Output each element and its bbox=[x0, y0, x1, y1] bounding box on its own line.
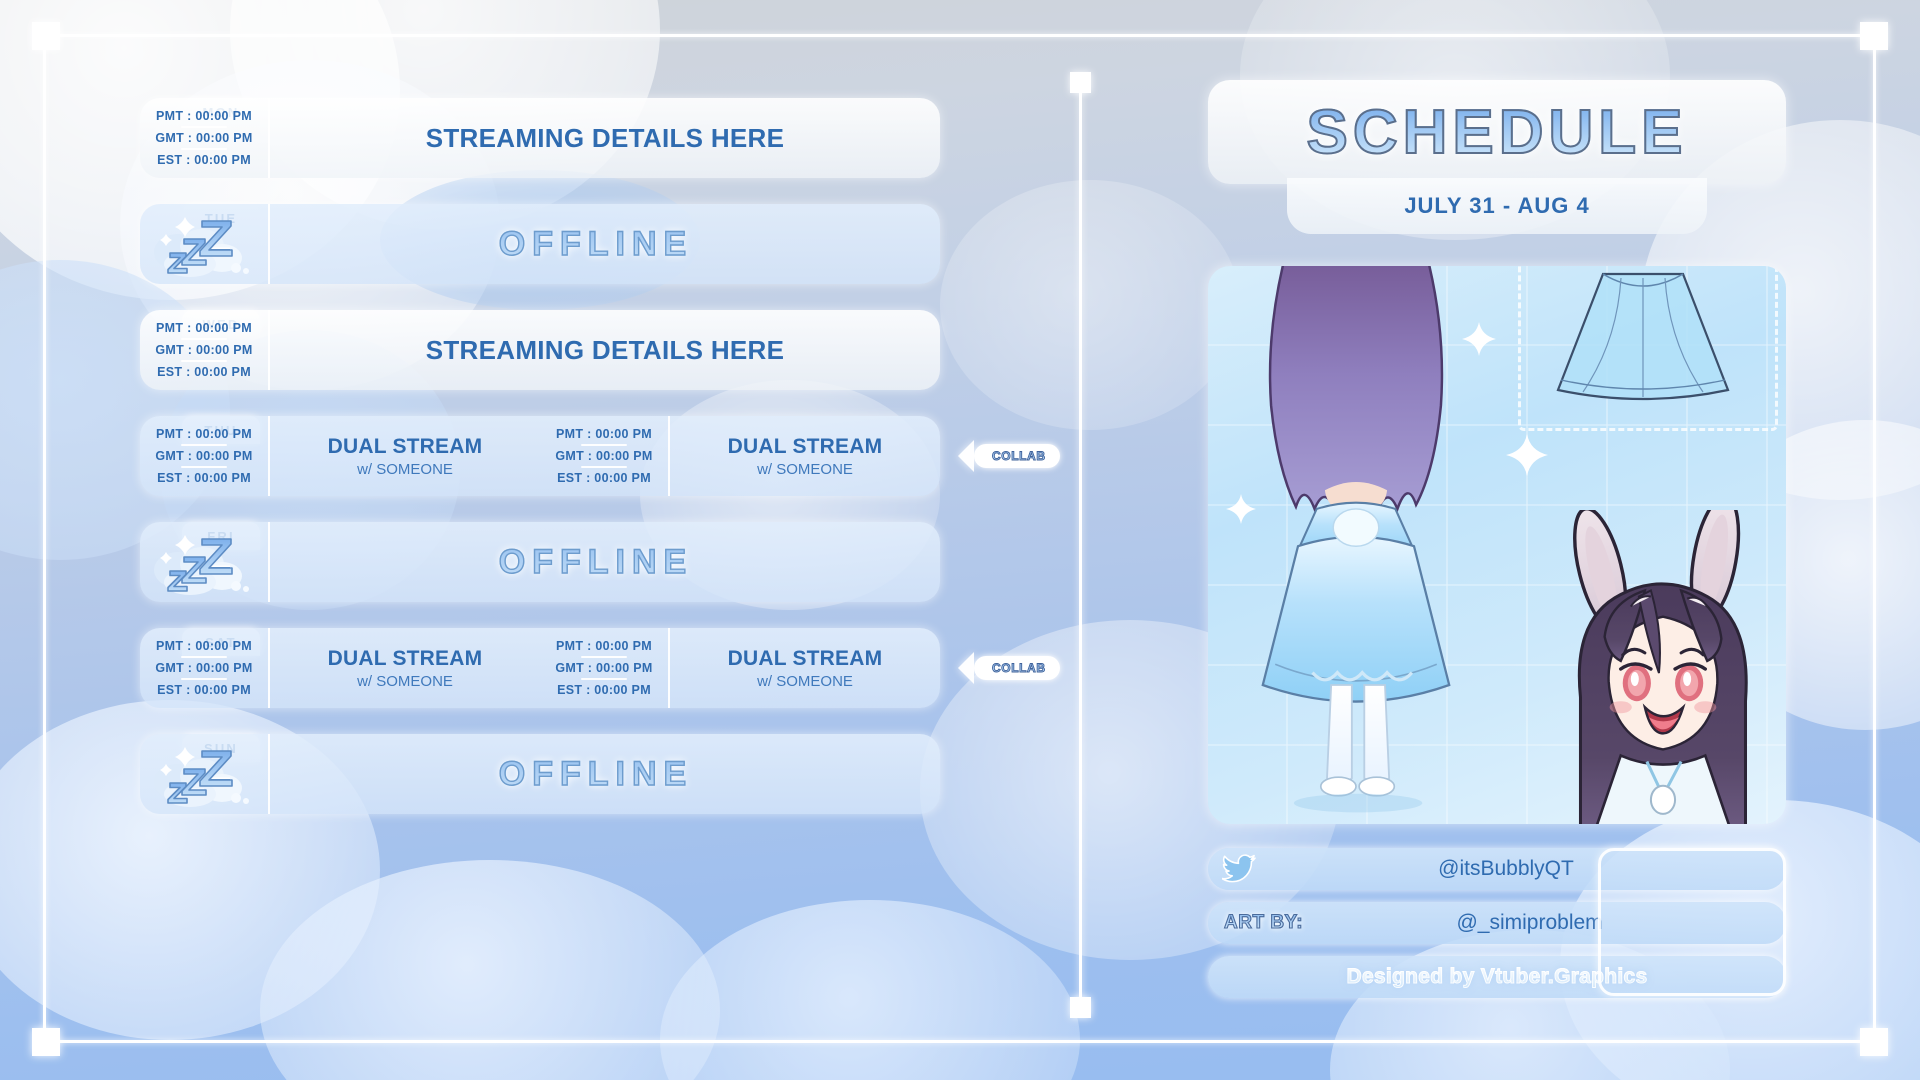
schedule-graphic: MONPMT : 00:00 PMGMT : 00:00 PMEST : 00:… bbox=[0, 0, 1920, 1080]
timeline-divider bbox=[1079, 82, 1082, 1008]
schedule-row-wed[interactable]: PMT : 00:00 PMGMT : 00:00 PMEST : 00:00 … bbox=[140, 310, 940, 390]
time-separator bbox=[181, 678, 227, 680]
dual-stream-text: DUAL STREAMw/ SOMEONE bbox=[670, 416, 940, 496]
dual-stream-text: DUAL STREAMw/ SOMEONE bbox=[270, 416, 540, 496]
time-line: PMT : 00:00 PM bbox=[156, 321, 252, 335]
collab-marker: COLLAB bbox=[958, 440, 1060, 472]
stream-title: STREAMING DETAILS HERE bbox=[426, 335, 785, 366]
dual-stream-text: DUAL STREAMw/ SOMEONE bbox=[270, 628, 540, 708]
time-separator bbox=[581, 656, 627, 658]
dual-stream-title: DUAL STREAM bbox=[328, 435, 483, 459]
dual-stream-title: DUAL STREAM bbox=[328, 647, 483, 671]
twitter-bird-icon bbox=[1222, 854, 1256, 884]
time-line: GMT : 00:00 PM bbox=[155, 343, 252, 357]
corner-node-tl bbox=[32, 22, 60, 50]
day-block: WEDPMT : 00:00 PMGMT : 00:00 PMEST : 00:… bbox=[140, 310, 940, 390]
dual-stream-half[interactable]: PMT : 00:00 PMGMT : 00:00 PMEST : 00:00 … bbox=[540, 416, 940, 496]
time-line: GMT : 00:00 PM bbox=[155, 449, 252, 463]
dual-stream-title: DUAL STREAM bbox=[728, 435, 883, 459]
time-block: PMT : 00:00 PMGMT : 00:00 PMEST : 00:00 … bbox=[140, 416, 270, 496]
time-line: EST : 00:00 PM bbox=[157, 365, 251, 379]
corner-node-br bbox=[1860, 1028, 1888, 1056]
time-separator bbox=[581, 678, 627, 680]
dual-stream-half[interactable]: PMT : 00:00 PMGMT : 00:00 PMEST : 00:00 … bbox=[140, 628, 540, 708]
schedule-row-thu[interactable]: PMT : 00:00 PMGMT : 00:00 PMEST : 00:00 … bbox=[140, 416, 940, 496]
schedule-row-sun[interactable]: OFFLINE bbox=[140, 734, 940, 814]
dual-stream-subtitle: w/ SOMEONE bbox=[757, 673, 853, 690]
collab-label: COLLAB bbox=[981, 658, 1057, 678]
day-block: TUE OFFLINE bbox=[140, 204, 940, 284]
timeline-node-top bbox=[1070, 72, 1091, 93]
bunny-character-icon bbox=[1534, 510, 1786, 824]
schedule-list: MONPMT : 00:00 PMGMT : 00:00 PMEST : 00:… bbox=[140, 72, 940, 826]
schedule-row-fri[interactable]: OFFLINE bbox=[140, 522, 940, 602]
time-separator bbox=[181, 338, 227, 340]
dual-stream-half[interactable]: PMT : 00:00 PMGMT : 00:00 PMEST : 00:00 … bbox=[540, 628, 940, 708]
time-separator bbox=[181, 444, 227, 446]
dual-stream-text: DUAL STREAMw/ SOMEONE bbox=[670, 628, 940, 708]
offline-label: OFFLINE bbox=[270, 522, 940, 602]
time-line: GMT : 00:00 PM bbox=[555, 661, 652, 675]
stream-title: STREAMING DETAILS HERE bbox=[426, 123, 785, 154]
collab-marker: COLLAB bbox=[958, 652, 1060, 684]
dual-stream-title: DUAL STREAM bbox=[728, 647, 883, 671]
time-line: PMT : 00:00 PM bbox=[156, 427, 252, 441]
day-block: SATPMT : 00:00 PMGMT : 00:00 PMEST : 00:… bbox=[140, 628, 940, 708]
time-separator bbox=[181, 466, 227, 468]
day-block: FRI OFFLINE bbox=[140, 522, 940, 602]
offline-icon-slot bbox=[140, 734, 270, 814]
schedule-row-sat[interactable]: PMT : 00:00 PMGMT : 00:00 PMEST : 00:00 … bbox=[140, 628, 940, 708]
time-separator bbox=[581, 444, 627, 446]
collab-badge: COLLAB bbox=[974, 444, 1060, 468]
dual-stream-subtitle: w/ SOMEONE bbox=[757, 461, 853, 478]
offline-icon-slot bbox=[140, 522, 270, 602]
right-panel: SCHEDULE JULY 31 - AUG 4 bbox=[1208, 80, 1786, 824]
date-range: JULY 31 - AUG 4 bbox=[1287, 178, 1707, 234]
time-block: PMT : 00:00 PMGMT : 00:00 PMEST : 00:00 … bbox=[140, 628, 270, 708]
dress-sketch-icon bbox=[1538, 272, 1748, 422]
time-line: PMT : 00:00 PM bbox=[156, 639, 252, 653]
time-line: EST : 00:00 PM bbox=[557, 683, 651, 697]
time-separator bbox=[581, 466, 627, 468]
time-block: PMT : 00:00 PMGMT : 00:00 PMEST : 00:00 … bbox=[540, 416, 670, 496]
sleeping-cloud-zzz-icon bbox=[144, 738, 270, 810]
offline-label: OFFLINE bbox=[270, 204, 940, 284]
time-separator bbox=[181, 148, 227, 150]
dual-stream-container: PMT : 00:00 PMGMT : 00:00 PMEST : 00:00 … bbox=[140, 416, 940, 496]
dual-stream-half[interactable]: PMT : 00:00 PMGMT : 00:00 PMEST : 00:00 … bbox=[140, 416, 540, 496]
collab-badge: COLLAB bbox=[974, 656, 1060, 680]
time-line: GMT : 00:00 PM bbox=[155, 661, 252, 675]
time-line: PMT : 00:00 PM bbox=[556, 427, 652, 441]
sparkle-icon bbox=[1506, 434, 1548, 476]
time-separator bbox=[181, 126, 227, 128]
dual-stream-subtitle: w/ SOMEONE bbox=[357, 461, 453, 478]
sleeping-cloud-zzz-icon bbox=[144, 208, 270, 280]
sleeping-cloud-zzz-icon bbox=[144, 526, 270, 598]
dual-stream-subtitle: w/ SOMEONE bbox=[357, 673, 453, 690]
day-block: THUPMT : 00:00 PMGMT : 00:00 PMEST : 00:… bbox=[140, 416, 940, 496]
page-title: SCHEDULE bbox=[1300, 97, 1693, 168]
time-line: PMT : 00:00 PM bbox=[556, 639, 652, 653]
offline-label: OFFLINE bbox=[270, 734, 940, 814]
time-line: EST : 00:00 PM bbox=[157, 471, 251, 485]
time-separator bbox=[181, 360, 227, 362]
schedule-row-tue[interactable]: OFFLINE bbox=[140, 204, 940, 284]
corner-node-bl bbox=[32, 1028, 60, 1056]
sparkle-icon bbox=[1462, 322, 1496, 356]
time-separator bbox=[181, 656, 227, 658]
row-main: STREAMING DETAILS HERE bbox=[270, 310, 940, 390]
collab-label: COLLAB bbox=[981, 446, 1057, 466]
schedule-row-mon[interactable]: PMT : 00:00 PMGMT : 00:00 PMEST : 00:00 … bbox=[140, 98, 940, 178]
row-main: STREAMING DETAILS HERE bbox=[270, 98, 940, 178]
art-by-label: ART BY: bbox=[1224, 912, 1303, 934]
dual-stream-container: PMT : 00:00 PMGMT : 00:00 PMEST : 00:00 … bbox=[140, 628, 940, 708]
time-line: GMT : 00:00 PM bbox=[555, 449, 652, 463]
time-line: EST : 00:00 PM bbox=[557, 471, 651, 485]
time-line: GMT : 00:00 PM bbox=[155, 131, 252, 145]
offline-icon-slot bbox=[140, 204, 270, 284]
character-artwork bbox=[1208, 266, 1786, 824]
collab-arrow-icon bbox=[958, 652, 974, 684]
day-block: MONPMT : 00:00 PMGMT : 00:00 PMEST : 00:… bbox=[140, 98, 940, 178]
timeline-node-bottom bbox=[1070, 997, 1091, 1018]
time-block: PMT : 00:00 PMGMT : 00:00 PMEST : 00:00 … bbox=[540, 628, 670, 708]
time-block: PMT : 00:00 PMGMT : 00:00 PMEST : 00:00 … bbox=[140, 310, 270, 390]
time-block: PMT : 00:00 PMGMT : 00:00 PMEST : 00:00 … bbox=[140, 98, 270, 178]
collab-arrow-icon bbox=[958, 440, 974, 472]
time-line: EST : 00:00 PM bbox=[157, 683, 251, 697]
schedule-header-card: SCHEDULE bbox=[1208, 80, 1786, 184]
corner-node-tr bbox=[1860, 22, 1888, 50]
time-line: EST : 00:00 PM bbox=[157, 153, 251, 167]
sparkle-icon bbox=[1226, 494, 1256, 524]
day-block: SUN OFFLINE bbox=[140, 734, 940, 814]
time-line: PMT : 00:00 PM bbox=[156, 109, 252, 123]
empty-placeholder-box bbox=[1598, 848, 1786, 996]
